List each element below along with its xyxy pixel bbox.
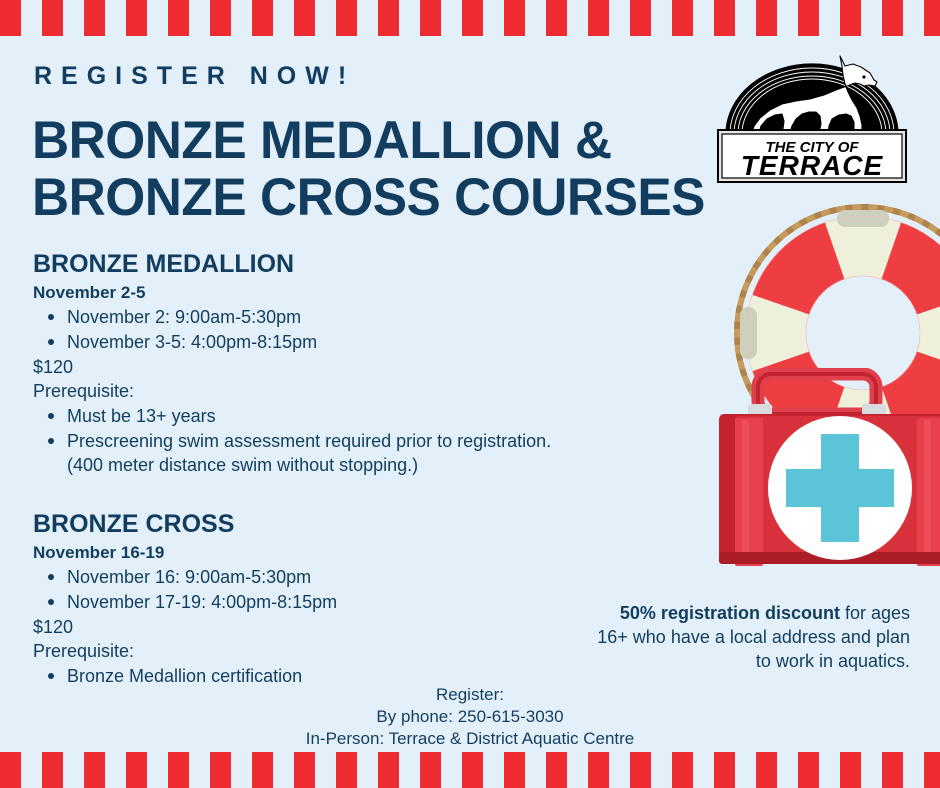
kit-handle bbox=[748, 374, 886, 418]
section-dates: November 2-5 bbox=[33, 282, 633, 303]
schedule-list: November 2: 9:00am-5:30pm November 3-5: … bbox=[33, 305, 633, 354]
section-heading: BRONZE CROSS bbox=[33, 510, 633, 538]
page-title: BRONZE MEDALLION & BRONZE CROSS COURSES bbox=[32, 112, 711, 226]
discount-note: 50% registration discount for ages 16+ w… bbox=[590, 601, 910, 673]
section-heading: BRONZE MEDALLION bbox=[33, 250, 633, 278]
city-of-terrace-logo: THE CITY OF TERRACE bbox=[712, 42, 912, 187]
section-price: $120 bbox=[33, 355, 633, 379]
section-bronze-medallion: BRONZE MEDALLION November 2-5 November 2… bbox=[33, 250, 633, 478]
register-in-person: In-Person: Terrace & District Aquatic Ce… bbox=[0, 728, 940, 750]
list-item: November 17-19: 4:00pm-8:15pm bbox=[67, 590, 633, 614]
section-price: $120 bbox=[33, 615, 633, 639]
section-dates: November 16-19 bbox=[33, 542, 633, 563]
top-stripe-band bbox=[0, 0, 940, 36]
title-line-1: BRONZE MEDALLION & bbox=[32, 111, 612, 170]
schedule-list: November 16: 9:00am-5:30pm November 17-1… bbox=[33, 565, 633, 614]
list-item: November 3-5: 4:00pm-8:15pm bbox=[67, 330, 633, 354]
list-item: November 2: 9:00am-5:30pm bbox=[67, 305, 633, 329]
list-item: Must be 13+ years bbox=[67, 404, 633, 428]
list-item-subtext: (400 meter distance swim without stoppin… bbox=[67, 453, 633, 477]
poster-canvas: REGISTER NOW! BRONZE MEDALLION & BRONZE … bbox=[0, 0, 940, 788]
discount-highlight: 50% registration discount bbox=[620, 603, 840, 623]
first-aid-kit-icon bbox=[690, 368, 940, 573]
bottom-stripe-band bbox=[0, 752, 940, 788]
logo-plaque: THE CITY OF TERRACE bbox=[718, 130, 906, 182]
list-item: November 16: 9:00am-5:30pm bbox=[67, 565, 633, 589]
register-phone: By phone: 250-615-3030 bbox=[0, 706, 940, 728]
prerequisite-label: Prerequisite: bbox=[33, 379, 633, 403]
list-item-text: Prescreening swim assessment required pr… bbox=[67, 431, 551, 451]
kicker-text: REGISTER NOW! bbox=[34, 62, 355, 91]
section-bronze-cross: BRONZE CROSS November 16-19 November 16:… bbox=[33, 510, 633, 689]
list-item: Prescreening swim assessment required pr… bbox=[67, 429, 633, 477]
register-info: Register: By phone: 250-615-3030 In-Pers… bbox=[0, 684, 940, 750]
title-line-2: BRONZE CROSS COURSES bbox=[32, 169, 711, 226]
register-heading: Register: bbox=[0, 684, 940, 706]
prerequisite-label: Prerequisite: bbox=[33, 639, 633, 663]
prerequisite-list: Must be 13+ years Prescreening swim asse… bbox=[33, 404, 633, 477]
medical-cross-icon bbox=[768, 416, 912, 560]
logo-line-large: TERRACE bbox=[741, 150, 884, 181]
